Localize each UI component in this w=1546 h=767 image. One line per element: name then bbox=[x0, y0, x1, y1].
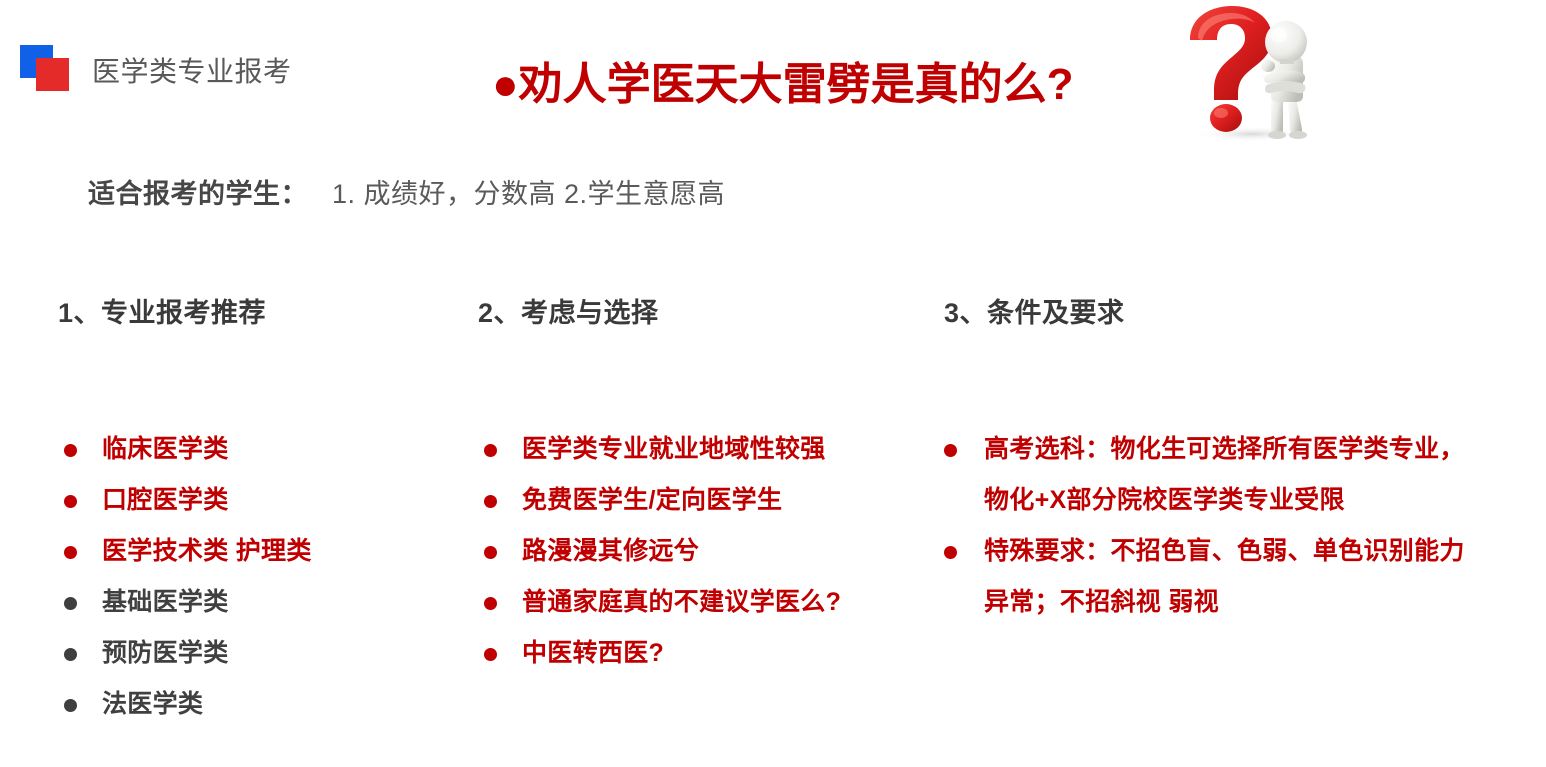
list-item: 医学技术类 护理类 bbox=[58, 526, 458, 577]
list-item: 医学类专业就业地域性较强 bbox=[478, 424, 918, 475]
bullet-dot-icon bbox=[64, 495, 77, 508]
list-item: 预防医学类 bbox=[58, 628, 458, 679]
list-item-label: 路漫漫其修远兮 bbox=[522, 526, 918, 577]
list-item-label: 医学技术类 护理类 bbox=[102, 526, 458, 577]
list-item-label: 基础医学类 bbox=[102, 577, 458, 628]
bullet-list: 临床医学类 口腔医学类 医学技术类 护理类 基础医学类 预防医学类 法医学类 bbox=[58, 424, 458, 730]
list-item-label: 免费医学生/定向医学生 bbox=[522, 475, 918, 526]
logo-red-square bbox=[36, 58, 69, 91]
list-item: 路漫漫其修远兮 bbox=[478, 526, 918, 577]
list-item: 临床医学类 bbox=[58, 424, 458, 475]
bullet-dot-icon bbox=[484, 597, 497, 610]
subtitle-row: 适合报考的学生： 1. 成绩好，分数高 2.学生意愿高 bbox=[88, 172, 725, 211]
list-item-label: 口腔医学类 bbox=[102, 475, 458, 526]
subtitle-strong: 适合报考的学生： bbox=[88, 172, 308, 211]
bullet-dot-icon bbox=[484, 546, 497, 559]
bullet-dot-icon bbox=[64, 597, 77, 610]
question-mark-thinking-figure-icon bbox=[1172, 4, 1332, 142]
bullet-dot-icon bbox=[484, 495, 497, 508]
column-professional-recommendations: 1、专业报考推荐 临床医学类 口腔医学类 医学技术类 护理类 基础医学类 预防医… bbox=[58, 296, 458, 330]
list-item: 中医转西医? bbox=[478, 628, 918, 679]
column-heading: 3、条件及要求 bbox=[944, 296, 1526, 330]
list-item-label: 医学类专业就业地域性较强 bbox=[522, 424, 918, 475]
bullet-dot-icon bbox=[64, 546, 77, 559]
column-conditions-and-requirements: 3、条件及要求 高考选科：物化生可选择所有医学类专业， 物化+X部分院校医学类专… bbox=[938, 296, 1526, 330]
list-item: 法医学类 bbox=[58, 679, 458, 730]
list-item: 高考选科：物化生可选择所有医学类专业， 物化+X部分院校医学类专业受限 bbox=[938, 424, 1526, 526]
page-title: ●劝人学医天大雷劈是真的么? bbox=[492, 48, 1073, 112]
list-item-label: 临床医学类 bbox=[102, 424, 458, 475]
column-heading: 2、考虑与选择 bbox=[478, 296, 918, 330]
list-item: 基础医学类 bbox=[58, 577, 458, 628]
list-item: 口腔医学类 bbox=[58, 475, 458, 526]
slide-header: 医学类专业报考 ●劝人学医天大雷劈是真的么? bbox=[0, 0, 1546, 145]
bullet-list: 医学类专业就业地域性较强 免费医学生/定向医学生 路漫漫其修远兮 普通家庭真的不… bbox=[478, 424, 918, 679]
bullet-dot-icon bbox=[64, 648, 77, 661]
list-item-label: 中医转西医? bbox=[522, 628, 918, 679]
list-item: 普通家庭真的不建议学医么? bbox=[478, 577, 918, 628]
list-item: 免费医学生/定向医学生 bbox=[478, 475, 918, 526]
column-considerations-and-choices: 2、考虑与选择 医学类专业就业地域性较强 免费医学生/定向医学生 路漫漫其修远兮… bbox=[478, 296, 918, 330]
list-item-label: 高考选科：物化生可选择所有医学类专业， 物化+X部分院校医学类专业受限 bbox=[984, 424, 1526, 526]
subtitle-normal: 1. 成绩好，分数高 2.学生意愿高 bbox=[332, 172, 725, 211]
bullet-dot-icon bbox=[944, 546, 957, 559]
column-heading: 1、专业报考推荐 bbox=[58, 296, 458, 330]
bullet-dot-icon bbox=[64, 444, 77, 457]
bullet-dot-icon bbox=[484, 444, 497, 457]
bullet-dot-icon bbox=[64, 699, 77, 712]
bullet-list: 高考选科：物化生可选择所有医学类专业， 物化+X部分院校医学类专业受限 特殊要求… bbox=[938, 424, 1526, 628]
list-item-label: 法医学类 bbox=[102, 679, 458, 730]
list-item: 特殊要求：不招色盲、色弱、单色识别能力 异常；不招斜视 弱视 bbox=[938, 526, 1526, 628]
list-item-label: 预防医学类 bbox=[102, 628, 458, 679]
list-item-label: 特殊要求：不招色盲、色弱、单色识别能力 异常；不招斜视 弱视 bbox=[984, 526, 1526, 628]
blue-red-squares-logo bbox=[20, 45, 70, 93]
list-item-label: 普通家庭真的不建议学医么? bbox=[522, 577, 918, 628]
header-label: 医学类专业报考 bbox=[92, 50, 292, 90]
bullet-dot-icon bbox=[944, 444, 957, 457]
bullet-dot-icon bbox=[484, 648, 497, 661]
